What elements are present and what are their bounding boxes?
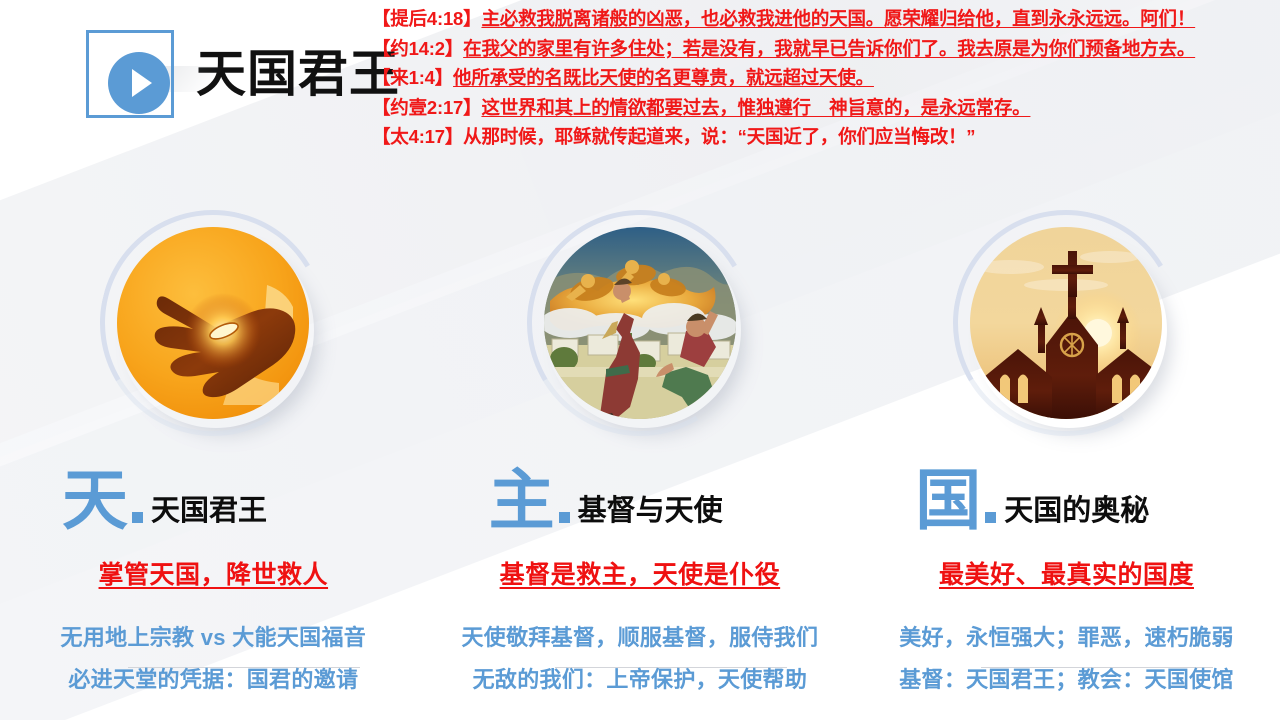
- brand-lockup: 天国君王: [86, 24, 376, 124]
- logo-disc: [108, 52, 170, 114]
- column-image-frame: [527, 210, 753, 436]
- scripture-list: 【提后4:18】主必救我脱离诸般的凶恶，也必救我进他的天国。愿荣耀归给他，直到永…: [372, 10, 1280, 158]
- column-zhu: 主 基督与天使 基督是救主，天使是仆役 天使敬拜基督，顺服基督，服侍我们 无敌的…: [427, 195, 854, 720]
- column-glyph: 国: [915, 470, 981, 531]
- column-headline-text: 基督是救主，天使是仆役: [500, 561, 781, 589]
- column-headline-text: 最美好、最真实的国度: [939, 561, 1194, 589]
- verse-reference: 【约壹2:17】: [372, 97, 481, 118]
- column-headline: 基督是救主，天使是仆役: [427, 555, 854, 591]
- pierced-hand-icon: [117, 227, 309, 419]
- column-heading: 主 基督与天使: [427, 470, 854, 531]
- church-sunset-icon: [970, 227, 1162, 419]
- column-body: 美好，永恒强大；罪恶，速朽脆弱 基督：天国君王；教会：天国使馆: [853, 627, 1280, 711]
- column-headline: 最美好、最真实的国度: [853, 555, 1280, 591]
- column-label: 天国君王: [151, 497, 267, 531]
- column-heading: 天 天国君王: [0, 470, 427, 531]
- verse-reference: 【来1:4】: [372, 67, 453, 88]
- column-body-line: 基督：天国君王；教会：天国使馆: [853, 669, 1280, 691]
- column-headline-text: 掌管天国，降世救人: [99, 561, 329, 589]
- verse-text: 主必救我脱离诸般的凶恶，也必救我进他的天国。愿荣耀归给他，直到永永远远。阿们！: [481, 8, 1195, 29]
- column-heading: 国 天国的奥秘: [853, 470, 1280, 531]
- verse-reference: 【约14:2】: [372, 38, 463, 59]
- chariots-of-fire-icon: [544, 227, 736, 419]
- scripture-verse: 【约14:2】在我父的家里有许多住处；若是没有，我就早已告诉你们了。我去原是为你…: [372, 40, 1280, 59]
- column-image-frame: [100, 210, 326, 436]
- column-tian: 天 天国君王 掌管天国，降世救人 无用地上宗教 vs 大能天国福音 必进天堂的凭…: [0, 195, 427, 720]
- column-body: 无用地上宗教 vs 大能天国福音 必进天堂的凭据：国君的邀请: [0, 627, 427, 711]
- square-bullet-icon: [559, 512, 570, 523]
- three-column-section: 天 天国君王 掌管天国，降世救人 无用地上宗教 vs 大能天国福音 必进天堂的凭…: [0, 195, 1280, 720]
- column-glyph: 天: [62, 470, 128, 531]
- square-bullet-icon: [985, 512, 996, 523]
- verse-reference: 【提后4:18】: [372, 8, 481, 29]
- column-label: 天国的奥秘: [1004, 497, 1149, 531]
- verse-text: 从那时候，耶稣就传起道来，说：“天国近了，你们应当悔改！”: [463, 126, 975, 147]
- column-body-line: 必进天堂的凭据：国君的邀请: [0, 669, 427, 691]
- column-body-line: 天使敬拜基督，顺服基督，服侍我们: [427, 627, 854, 649]
- play-button-icon: [86, 26, 182, 122]
- column-label: 基督与天使: [578, 497, 723, 531]
- scripture-verse: 【约壹2:17】这世界和其上的情欲都要过去，惟独遵行 神旨意的，是永远常存。: [372, 99, 1280, 118]
- column-body: 天使敬拜基督，顺服基督，服侍我们 无敌的我们：上帝保护，天使帮助: [427, 627, 854, 711]
- slide-header: 天国君王 【提后4:18】主必救我脱离诸般的凶恶，也必救我进他的天国。愿荣耀归给…: [0, 0, 1280, 190]
- verse-text: 他所承受的名既比天使的名更尊贵，就远超过天使。: [453, 67, 874, 88]
- column-body-line: 无用地上宗教 vs 大能天国福音: [0, 627, 427, 649]
- verse-text: 这世界和其上的情欲都要过去，惟独遵行 神旨意的，是永远常存。: [481, 97, 1030, 118]
- verse-reference: 【太4:17】: [372, 126, 463, 147]
- square-bullet-icon: [132, 512, 143, 523]
- column-glyph: 主: [489, 470, 555, 531]
- page-title: 天国君王: [196, 49, 400, 99]
- verse-text: 在我父的家里有许多住处；若是没有，我就早已告诉你们了。我去原是为你们预备地方去。: [463, 38, 1195, 59]
- scripture-verse: 【提后4:18】主必救我脱离诸般的凶恶，也必救我进他的天国。愿荣耀归给他，直到永…: [372, 10, 1280, 29]
- column-body-line: 美好，永恒强大；罪恶，速朽脆弱: [853, 627, 1280, 649]
- column-body-line: 无敌的我们：上帝保护，天使帮助: [427, 669, 854, 691]
- column-guo: 国 天国的奥秘 最美好、最真实的国度 美好，永恒强大；罪恶，速朽脆弱 基督：天国…: [853, 195, 1280, 720]
- column-headline: 掌管天国，降世救人: [0, 555, 427, 591]
- column-image-frame: [953, 210, 1179, 436]
- scripture-verse: 【来1:4】他所承受的名既比天使的名更尊贵，就远超过天使。: [372, 69, 1280, 88]
- slide-root: 天国君王 【提后4:18】主必救我脱离诸般的凶恶，也必救我进他的天国。愿荣耀归给…: [0, 0, 1280, 720]
- scripture-verse: 【太4:17】从那时候，耶稣就传起道来，说：“天国近了，你们应当悔改！”: [372, 128, 1280, 147]
